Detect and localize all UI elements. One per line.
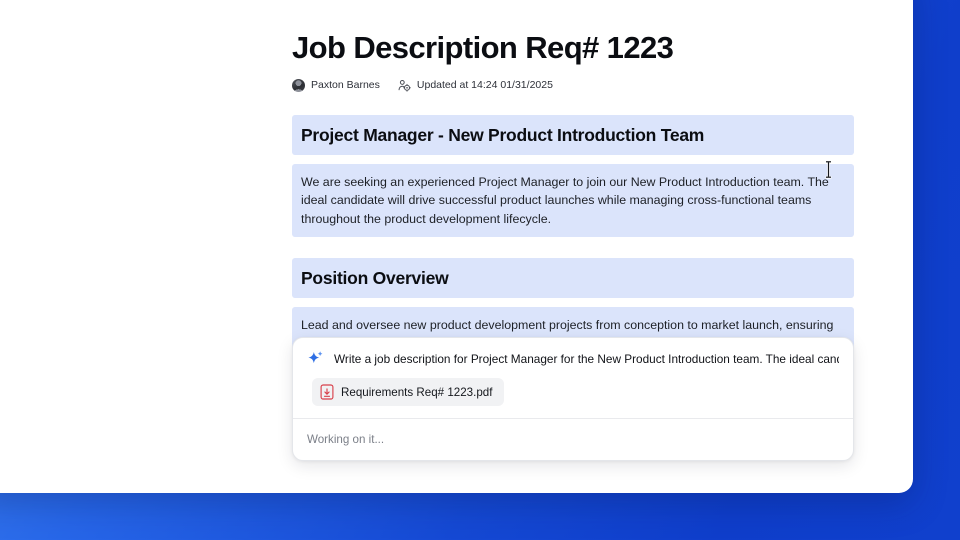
ai-status-bar: Working on it... (293, 418, 853, 460)
document-meta: Paxton Barnes Updated at 14:24 01/31/202… (292, 77, 854, 93)
section-heading-2: Position Overview (301, 267, 845, 289)
ai-attachment-row: Requirements Req# 1223.pdf (312, 378, 839, 406)
meta-author[interactable]: Paxton Barnes (292, 79, 380, 92)
section-heading-block-2[interactable]: Position Overview (292, 258, 854, 298)
user-gear-icon (398, 79, 411, 92)
meta-updated[interactable]: Updated at 14:24 01/31/2025 (398, 79, 553, 92)
ai-prompt-text: Write a job description for Project Mana… (334, 351, 839, 367)
screen: Job Description Req# 1223 Paxton Barnes (0, 0, 960, 540)
ai-prompt-row[interactable]: Write a job description for Project Mana… (307, 351, 839, 368)
section-heading-block-1[interactable]: Project Manager - New Product Introducti… (292, 115, 854, 155)
updated-timestamp: Updated at 14:24 01/31/2025 (417, 79, 553, 92)
ai-prompt-area[interactable]: Write a job description for Project Mana… (293, 338, 853, 418)
section-heading-1: Project Manager - New Product Introducti… (301, 124, 845, 146)
ai-status-text: Working on it... (307, 433, 384, 446)
section-spacer (292, 246, 854, 258)
author-name: Paxton Barnes (311, 79, 380, 92)
section-body-1: We are seeking an experienced Project Ma… (301, 173, 845, 228)
ai-assistant-card[interactable]: Write a job description for Project Mana… (292, 337, 854, 461)
sparkle-icon (307, 350, 325, 368)
section-body-block-1[interactable]: We are seeking an experienced Project Ma… (292, 164, 854, 237)
avatar-icon (292, 79, 305, 92)
attachment-chip[interactable]: Requirements Req# 1223.pdf (312, 378, 504, 406)
page-title: Job Description Req# 1223 (292, 28, 854, 68)
pdf-file-icon (320, 384, 334, 400)
document-content: Job Description Req# 1223 Paxton Barnes (292, 28, 854, 371)
attachment-file-name: Requirements Req# 1223.pdf (341, 385, 492, 400)
